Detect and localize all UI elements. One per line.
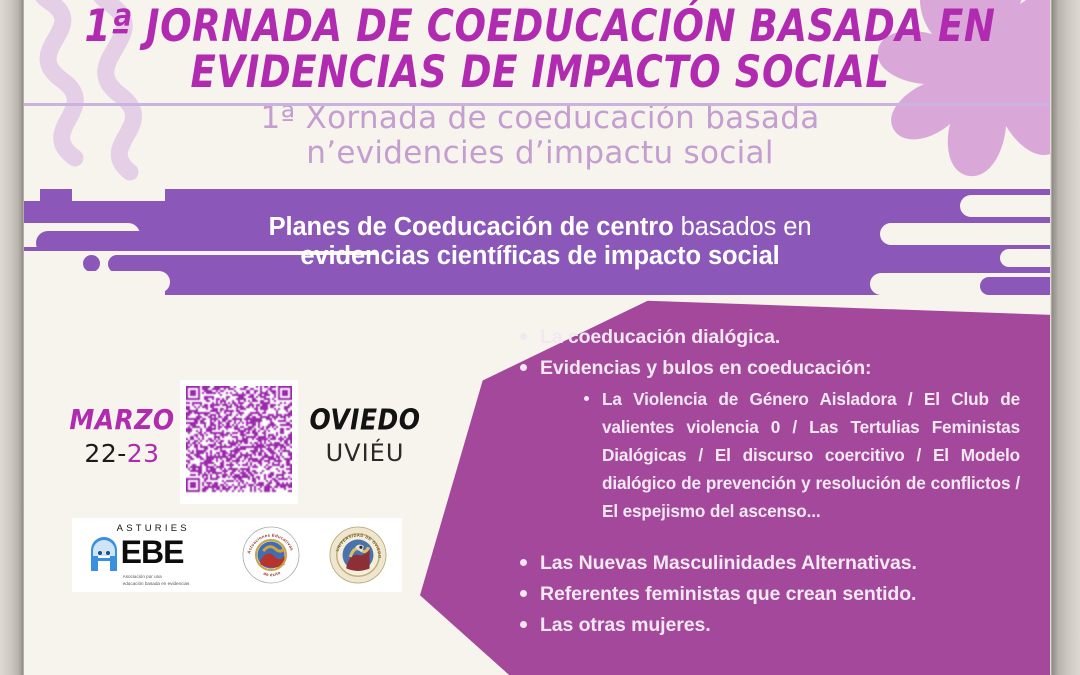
banner-line-2: evidencias científicas de impacto social (300, 242, 779, 271)
logo-aebe-letters: EBE (121, 538, 184, 567)
qr-code[interactable] (180, 380, 298, 504)
poster-subtitle: 1ª Xornada de coeducación basada n’evide… (0, 101, 1080, 170)
event-day-second: 23 (127, 439, 160, 468)
logo-aebe: ASTURIES EBE Asociación por una educació… (87, 523, 213, 587)
poster-title: 1ª JORNADA DE COEDUCACIÓN BASADA EN EVID… (0, 0, 1080, 96)
event-days: 22-23 (62, 439, 182, 468)
topics-list-container: La coeducación dialógica. Evidencias y b… (520, 322, 1020, 641)
sponsor-logos-strip: ASTURIES EBE Asociación por una educació… (72, 518, 402, 592)
topics-sublist: La Violencia de Género Aisladora / El Cl… (584, 386, 1020, 525)
banner-line-1: Planes de Coeducación de centro basados … (269, 213, 812, 242)
title-line-2: EVIDENCIAS DE IMPACTO SOCIAL (0, 51, 1080, 97)
subtitle-line-2: n’evidencies d’impactu social (0, 136, 1080, 171)
list-item: La coeducación dialógica. (520, 322, 1020, 353)
list-item: Evidencias y bulos en coeducación: La Vi… (520, 353, 1020, 525)
logo-aebe-subtitle: Asociación por una educación basada en e… (123, 574, 190, 587)
banner-line-1-bold: Planes de Coeducación de centro (269, 213, 674, 241)
title-block: 1ª JORNADA DE COEDUCACIÓN BASADA EN EVID… (0, 0, 1080, 171)
aebe-arch-icon (87, 534, 121, 572)
banner-underline (0, 103, 1080, 106)
list-item: Las otras mujeres. (520, 610, 1020, 641)
banner-text: Planes de Coeducación de centro basados … (0, 189, 1080, 295)
bullet-icon (584, 396, 589, 401)
logo-actuaciones-educativas-exito: Actuaciones Educativas de éxito (242, 526, 300, 584)
list-spacer (520, 526, 1020, 548)
event-city-asturian: UVIÉU (300, 439, 430, 467)
topic-3-label: Las Nuevas Masculinidades Alternativas. (540, 552, 917, 574)
topic-2-sub-label: La Violencia de Género Aisladora / El Cl… (602, 389, 1020, 520)
event-month: MARZO (62, 403, 182, 435)
list-item: Referentes feministas que crean sentido. (520, 579, 1020, 610)
topic-1-label: La coeducación dialógica. (540, 326, 780, 348)
title-line-1: 1ª JORNADA DE COEDUCACIÓN BASADA EN (85, 1, 996, 52)
logo-aebe-top-text: ASTURIES (117, 523, 190, 534)
event-location: OVIEDO UVIÉU (300, 405, 430, 467)
topic-4-label: Referentes feministas que crean sentido. (540, 583, 916, 605)
logo-aebe-sub-1: Asociación por una (123, 574, 190, 581)
event-date: MARZO 22-23 (62, 405, 182, 468)
bullet-icon (520, 559, 527, 566)
banner-line-1-light: basados en (674, 213, 812, 241)
logo-aebe-sub-2: educación basada en evidencias (123, 581, 190, 588)
event-city: OVIEDO (300, 403, 430, 436)
poster-canvas: 1ª JORNADA DE COEDUCACIÓN BASADA EN EVID… (0, 0, 1080, 675)
logo-universidad-de-oviedo: UNIVERSIDAD DE OVIEDO (329, 526, 387, 584)
logo-aebe-main: EBE (87, 534, 184, 572)
bullet-icon (520, 590, 527, 597)
bullet-icon (520, 333, 527, 340)
banner-strip: Planes de Coeducación de centro basados … (0, 189, 1080, 295)
list-item: Las Nuevas Masculinidades Alternativas. (520, 548, 1020, 579)
topic-2-label: Evidencias y bulos en coeducación: (540, 357, 871, 379)
topics-list: La coeducación dialógica. Evidencias y b… (520, 322, 1020, 641)
topic-5-label: Las otras mujeres. (540, 614, 711, 636)
event-day-first: 22- (84, 439, 126, 468)
bullet-icon (520, 621, 527, 628)
list-item: La Violencia de Género Aisladora / El Cl… (584, 386, 1020, 525)
bullet-icon (520, 364, 527, 371)
